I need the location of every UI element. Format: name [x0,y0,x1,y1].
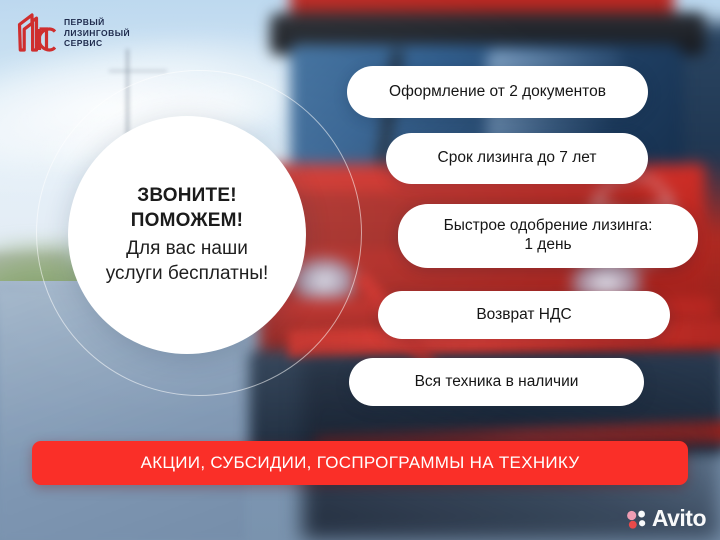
logo-line-1: ПЕРВЫЙ [64,18,130,27]
logo-line-2: ЛИЗИНГОВЫЙ [64,29,130,38]
logo-wordmark: ПЕРВЫЙ ЛИЗИНГОВЫЙ СЕРВИС [64,18,130,48]
hero-subline-2: услуги бесплатны! [106,262,269,287]
avito-wordmark: Avito [652,507,706,530]
feature-pill-label: Оформление от 2 документов [389,83,606,102]
company-logo: ПЕРВЫЙ ЛИЗИНГОВЫЙ СЕРВИС [16,12,130,54]
hero-headline-1: ЗВОНИТЕ! [137,183,237,208]
feature-pill-label: Вся техника в наличии [415,373,579,392]
feature-pill-documents[interactable]: Оформление от 2 документов [347,66,648,118]
avito-dots-icon [626,508,648,530]
ad-banner-canvas: ПЕРВЫЙ ЛИЗИНГОВЫЙ СЕРВИС ЗВОНИТЕ! ПОМОЖЕ… [0,0,720,540]
feature-pill-stock[interactable]: Вся техника в наличии [349,358,644,406]
feature-pill-vat[interactable]: Возврат НДС [378,291,670,339]
hero-subline-1: Для вас наши [126,237,248,262]
feature-pill-approval[interactable]: Быстрое одобрение лизинга: 1 день [398,204,698,268]
cta-banner[interactable]: АКЦИИ, СУБСИДИИ, ГОСПРОГРАММЫ НА ТЕХНИКУ [32,441,688,485]
feature-pill-term[interactable]: Срок лизинга до 7 лет [386,133,648,184]
cta-banner-label: АКЦИИ, СУБСИДИИ, ГОСПРОГРАММЫ НА ТЕХНИКУ [141,453,580,473]
hero-headline-2: ПОМОЖЕМ! [131,208,243,233]
hero-callout-circle: ЗВОНИТЕ! ПОМОЖЕМ! Для вас наши услуги бе… [68,116,306,354]
feature-pill-label: Срок лизинга до 7 лет [438,149,597,168]
feature-pill-label: Быстрое одобрение лизинга: 1 день [444,217,653,255]
avito-watermark: Avito [626,507,706,530]
feature-pill-label: Возврат НДС [476,306,571,325]
logo-line-3: СЕРВИС [64,39,130,48]
house-1ls-logo-icon [16,12,56,54]
